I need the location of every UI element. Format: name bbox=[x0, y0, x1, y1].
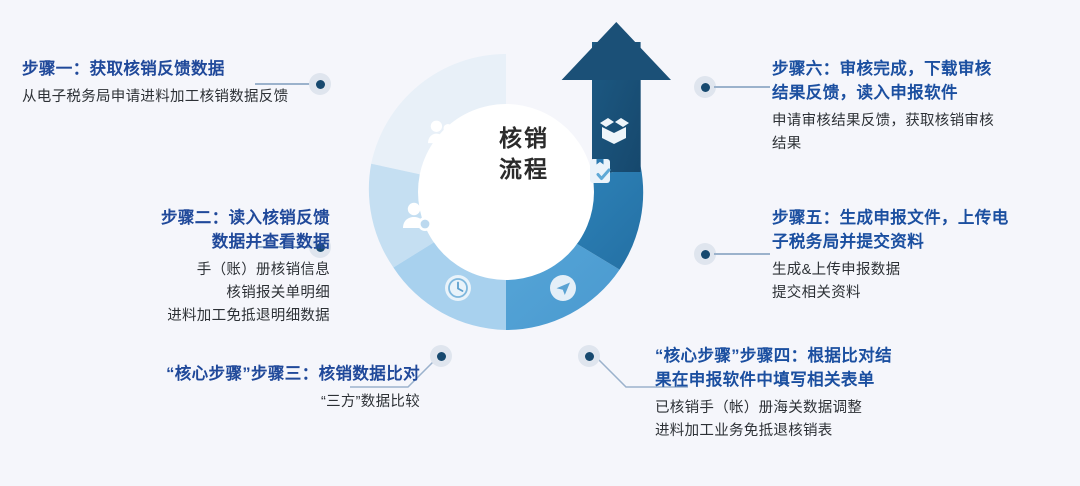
step-2-sub-2: 核销报关单明细 bbox=[10, 282, 330, 305]
step-6-sub-1: 申请审核结果反馈，获取核销审核 bbox=[772, 110, 1072, 133]
connector-line bbox=[714, 86, 770, 88]
step-2-sub-3: 进料加工免抵退明细数据 bbox=[10, 305, 330, 328]
step-6-title-line2: 结果反馈，读入申报软件 bbox=[772, 82, 1072, 106]
center-title-line1: 核销 bbox=[454, 123, 594, 154]
step-5-sub-2: 提交相关资料 bbox=[772, 282, 1072, 305]
connector-line bbox=[714, 253, 770, 255]
step-4-sub-2: 进料加工业务免抵退核销表 bbox=[655, 420, 995, 443]
step-3-title: “核心步骤”步骤三：核销数据比对 bbox=[30, 363, 420, 387]
step-4-title-line1: “核心步骤”步骤四：根据比对结 bbox=[655, 345, 995, 369]
step-5-sub-1: 生成&上传申报数据 bbox=[772, 259, 1072, 282]
clock-icon bbox=[445, 275, 471, 301]
step-6-sub-2: 结果 bbox=[772, 133, 1072, 156]
step-5-title-line1: 步骤五：生成申报文件，上传电 bbox=[772, 207, 1072, 231]
step-2-sub-1: 手（账）册核销信息 bbox=[10, 259, 330, 282]
step-4: “核心步骤”步骤四：根据比对结 果在申报软件中填写相关表单 已核销手（帐）册海关… bbox=[655, 345, 995, 443]
step-2-title-line1: 步骤二：读入核销反馈 bbox=[10, 207, 330, 231]
step-2-title-line2: 数据并查看数据 bbox=[10, 231, 330, 255]
center-title: 核销 流程 bbox=[454, 123, 594, 185]
connector-dot-step3[interactable] bbox=[430, 345, 452, 367]
step-1: 步骤一：获取核销反馈数据 从电子税务局申请进料加工核销数据反馈 bbox=[22, 58, 352, 109]
step-5-title-line2: 子税务局并提交资料 bbox=[772, 231, 1072, 255]
step-2: 步骤二：读入核销反馈 数据并查看数据 手（账）册核销信息 核销报关单明细 进料加… bbox=[10, 207, 330, 328]
step-1-sub-1: 从电子税务局申请进料加工核销数据反馈 bbox=[22, 86, 352, 109]
step-6-title-line1: 步骤六：审核完成，下载审核 bbox=[772, 58, 1072, 82]
step-1-title: 步骤一：获取核销反馈数据 bbox=[22, 58, 352, 82]
step-4-title-line2: 果在申报软件中填写相关表单 bbox=[655, 369, 995, 393]
step-6: 步骤六：审核完成，下载审核 结果反馈，读入申报软件 申请审核结果反馈，获取核销审… bbox=[772, 58, 1072, 156]
step-4-sub-1: 已核销手（帐）册海关数据调整 bbox=[655, 397, 995, 420]
step-3: “核心步骤”步骤三：核销数据比对 “三方”数据比较 bbox=[30, 363, 420, 414]
connector-dot-step5[interactable] bbox=[694, 243, 716, 265]
paper-plane-icon bbox=[550, 275, 576, 301]
connector-dot-step4[interactable] bbox=[578, 345, 600, 367]
center-title-line2: 流程 bbox=[454, 154, 594, 185]
process-wheel: 核销 流程 bbox=[368, 22, 688, 352]
connector-dot-step6[interactable] bbox=[694, 76, 716, 98]
step-5: 步骤五：生成申报文件，上传电 子税务局并提交资料 生成&上传申报数据 提交相关资… bbox=[772, 207, 1072, 305]
diagram-canvas: 核销 流程 步骤一：获取核销反馈数据 从电子税务局申请进 bbox=[0, 0, 1080, 486]
step-3-sub-1: “三方”数据比较 bbox=[30, 391, 420, 414]
